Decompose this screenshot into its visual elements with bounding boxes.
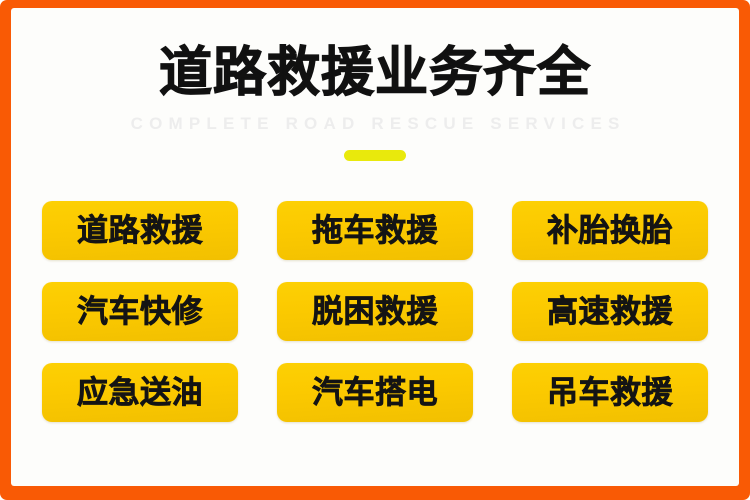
- service-button-quick-car-repair[interactable]: 汽车快修: [42, 282, 238, 341]
- service-button-emergency-fuel-delivery[interactable]: 应急送油: [42, 363, 238, 422]
- poster-frame: 道路救援业务齐全 COMPLETE ROAD RESCUE SERVICES 道…: [0, 0, 750, 500]
- service-button-label: 汽车搭电: [312, 376, 438, 410]
- service-button-tire-repair-replace[interactable]: 补胎换胎: [512, 201, 708, 260]
- service-button-label: 高速救援: [547, 295, 673, 329]
- service-button-crane-rescue[interactable]: 吊车救援: [512, 363, 708, 422]
- service-button-extrication-rescue[interactable]: 脱困救援: [277, 282, 473, 341]
- service-button-label: 拖车救援: [312, 214, 438, 248]
- title-accent-bar: [344, 150, 406, 161]
- service-button-label: 应急送油: [77, 376, 203, 410]
- service-button-label: 汽车快修: [77, 295, 203, 329]
- service-button-label: 脱困救援: [312, 295, 438, 329]
- service-button-label: 道路救援: [77, 214, 203, 248]
- poster-panel: 道路救援业务齐全 COMPLETE ROAD RESCUE SERVICES 道…: [11, 8, 739, 486]
- service-button-towing-rescue[interactable]: 拖车救援: [277, 201, 473, 260]
- service-button-label: 补胎换胎: [547, 214, 673, 248]
- service-button-highway-rescue[interactable]: 高速救援: [512, 282, 708, 341]
- service-button-road-rescue[interactable]: 道路救援: [42, 201, 238, 260]
- service-button-jump-start[interactable]: 汽车搭电: [277, 363, 473, 422]
- page-subtitle: COMPLETE ROAD RESCUE SERVICES: [11, 114, 739, 134]
- page-title: 道路救援业务齐全: [11, 44, 739, 102]
- service-button-label: 吊车救援: [547, 376, 673, 410]
- service-button-grid: 道路救援 拖车救援 补胎换胎 汽车快修 脱困救援 高速救援 应急送油 汽车搭电: [42, 201, 708, 422]
